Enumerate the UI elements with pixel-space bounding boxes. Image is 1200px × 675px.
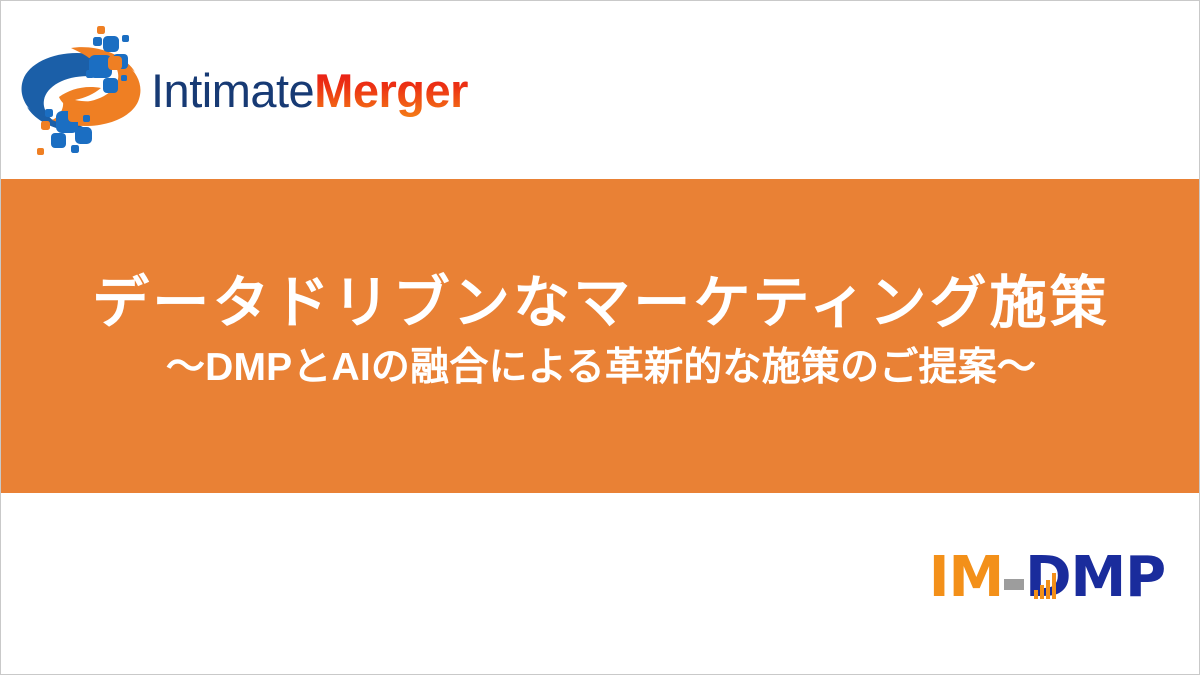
slide-title: データドリブンなマーケティング施策 [92,270,1110,337]
im-dmp-logo-im: IM [929,550,1003,606]
company-logo: IntimateMerger [15,23,468,157]
wordmark-merger: Merger [314,64,468,117]
wordmark-intimate: Intimate [151,64,314,117]
presentation-slide: IntimateMerger データドリブンなマーケティング施策 〜DMPとAI… [0,0,1200,675]
slide-subtitle: 〜DMPとAIの融合による革新的な施策のご提案〜 [166,345,1036,392]
im-dmp-logo: IM DMP [929,551,1165,605]
slide-footer: IM DMP [1,493,1200,675]
company-wordmark: IntimateMerger [151,67,468,114]
slide-header: IntimateMerger [1,1,1200,179]
bar-chart-icon [1034,572,1059,599]
im-dmp-logo-dmp-wrap: DMP [1025,550,1165,606]
title-band: データドリブンなマーケティング施策 〜DMPとAIの融合による革新的な施策のご提… [1,179,1200,493]
intimate-merger-swirl-mark [15,23,147,157]
im-dmp-logo-dash [1004,579,1024,590]
